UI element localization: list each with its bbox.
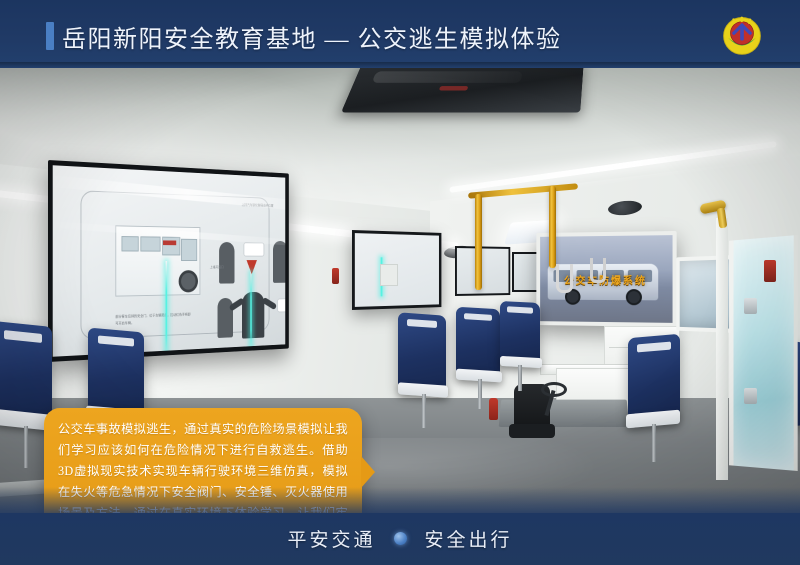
header-accent-bar <box>46 22 54 50</box>
page-header: 岳阳新阳安全教育基地 — 公交逃生模拟体验 <box>0 0 800 68</box>
footer-separator-dot <box>394 532 407 545</box>
traffic-police-emblem-icon <box>719 12 765 58</box>
page-footer: 平安交通 安全出行 <box>0 513 800 565</box>
slide-page: 岳阳新阳安全教育基地 — 公交逃生模拟体验 <box>0 0 800 565</box>
page-title: 岳阳新阳安全教育基地 — 公交逃生模拟体验 <box>62 19 562 54</box>
simulation-room-photo: 上排汽车钢化玻璃击碎位置 上排开窗口 部分客车后排的安全门，位于车辆尾部，拉动红… <box>0 68 800 513</box>
footer-slogan-left: 平安交通 <box>287 525 375 552</box>
footer-slogan-right: 安全出行 <box>425 525 513 552</box>
